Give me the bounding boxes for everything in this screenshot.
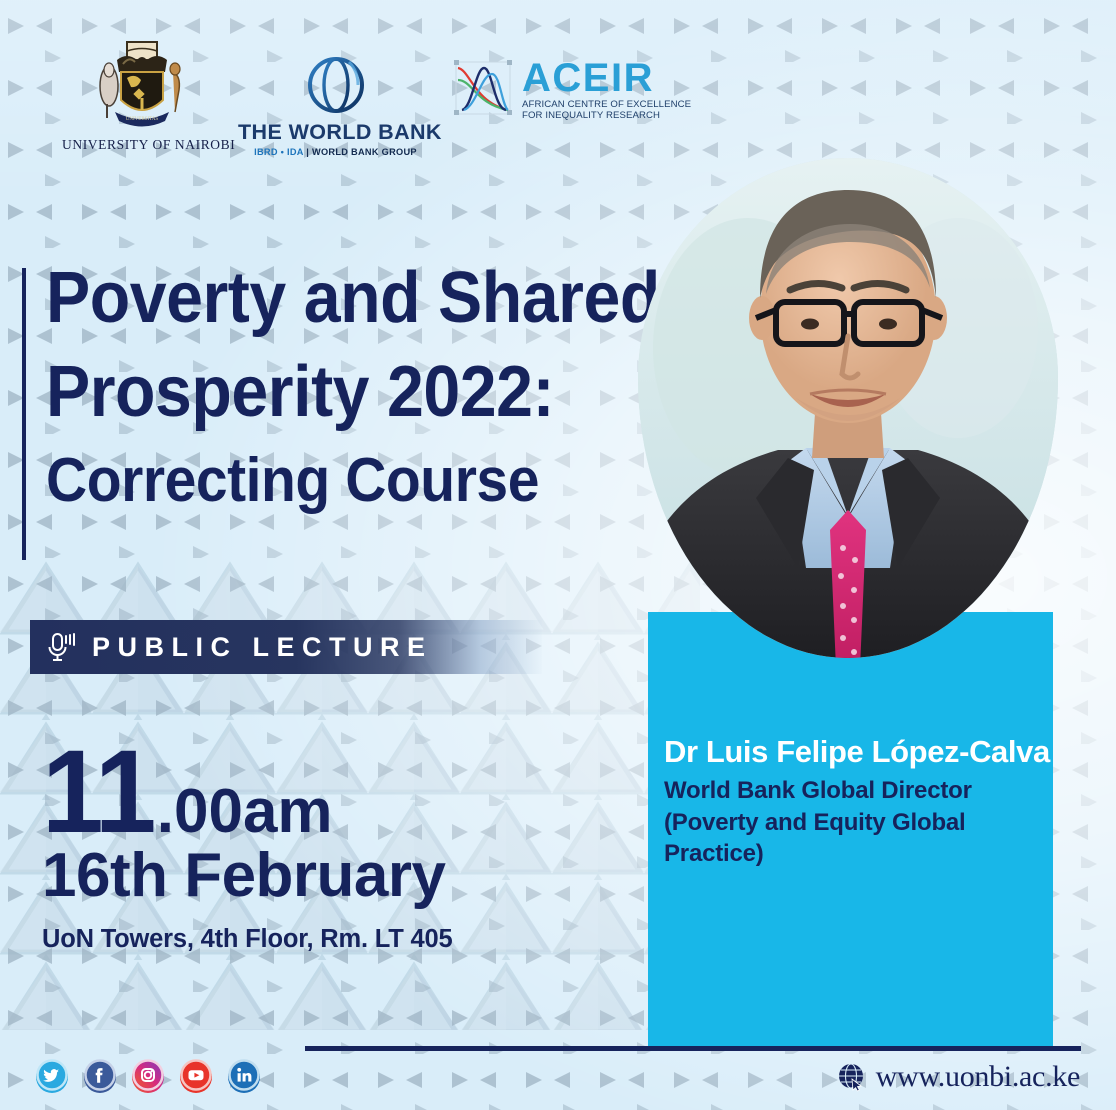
- aceir-curves-icon: [452, 58, 514, 120]
- speaker-role-line-2: (Poverty and Equity Global Practice): [664, 807, 1064, 870]
- world-bank-divider: |: [306, 147, 309, 157]
- speaker-portrait-clip: [638, 158, 1058, 658]
- title-line-3: Correcting Course: [46, 450, 616, 512]
- speaker-role-line-1: World Bank Global Director: [664, 775, 1064, 807]
- university-crest-icon: UNIVERSITAS: [87, 38, 197, 134]
- twitter-icon[interactable]: [34, 1058, 70, 1094]
- website-url[interactable]: www.uonbi.ac.ke: [876, 1060, 1080, 1094]
- speaker-name: Dr Luis Felipe López-Calva: [664, 735, 1064, 769]
- event-venue: UoN Towers, 4th Floor, Rm. LT 405: [42, 925, 452, 954]
- event-time-minutes: .00am: [157, 781, 333, 843]
- globe-cursor-icon: [837, 1062, 867, 1092]
- poster-canvas: UNIVERSITAS UNIVERSITY OF NAIROBI TH: [0, 0, 1116, 1110]
- title-line-1: Poverty and Shared: [46, 262, 616, 334]
- event-time: 11 .00am: [42, 742, 452, 843]
- aceir-title: ACEIR: [522, 60, 691, 97]
- world-bank-globe-icon: [305, 54, 367, 116]
- public-lecture-label: PUBLIC LECTURE: [92, 632, 433, 663]
- microphone-icon: [44, 630, 78, 664]
- event-time-hour: 11: [42, 742, 154, 843]
- speaker-info: Dr Luis Felipe López-Calva World Bank Gl…: [664, 735, 1064, 870]
- instagram-icon[interactable]: [130, 1058, 166, 1094]
- facebook-icon[interactable]: [82, 1058, 118, 1094]
- poster-title: Poverty and Shared Prosperity 2022: Corr…: [46, 262, 666, 512]
- svg-text:UNIVERSITAS: UNIVERSITAS: [126, 117, 159, 122]
- footer-divider: [305, 1046, 1081, 1051]
- aceir-logo: ACEIR AFRICAN CENTRE OF EXCELLENCE FOR I…: [452, 58, 691, 121]
- aceir-subtitle: AFRICAN CENTRE OF EXCELLENCE FOR INEQUAL…: [522, 99, 691, 122]
- linkedin-icon[interactable]: [226, 1058, 262, 1094]
- world-bank-group-label: WORLD BANK GROUP: [312, 147, 417, 157]
- speaker-portrait-image: [638, 158, 1058, 658]
- logo-row: UNIVERSITAS UNIVERSITY OF NAIROBI TH: [0, 38, 700, 178]
- world-bank-name: THE WORLD BANK: [238, 120, 433, 145]
- world-bank-logo: THE WORLD BANK IBRD • IDA | WORLD BANK G…: [238, 54, 433, 157]
- website-link[interactable]: www.uonbi.ac.ke: [837, 1060, 1080, 1094]
- public-lecture-banner: PUBLIC LECTURE: [30, 620, 542, 674]
- social-links[interactable]: [34, 1058, 262, 1094]
- title-line-2: Prosperity 2022:: [46, 356, 616, 428]
- event-details: 11 .00am 16th February UoN Towers, 4th F…: [42, 742, 452, 954]
- world-bank-ibrd-ida: IBRD • IDA: [254, 147, 303, 157]
- title-accent-rule: [22, 268, 26, 560]
- youtube-icon[interactable]: [178, 1058, 214, 1094]
- university-of-nairobi-logo: UNIVERSITAS UNIVERSITY OF NAIROBI: [62, 38, 222, 153]
- university-logo-label: UNIVERSITY OF NAIROBI: [62, 137, 222, 153]
- world-bank-subtitle: IBRD • IDA | WORLD BANK GROUP: [238, 147, 433, 157]
- speaker-portrait: [638, 158, 1058, 658]
- speaker-role: World Bank Global Director (Poverty and …: [664, 775, 1064, 870]
